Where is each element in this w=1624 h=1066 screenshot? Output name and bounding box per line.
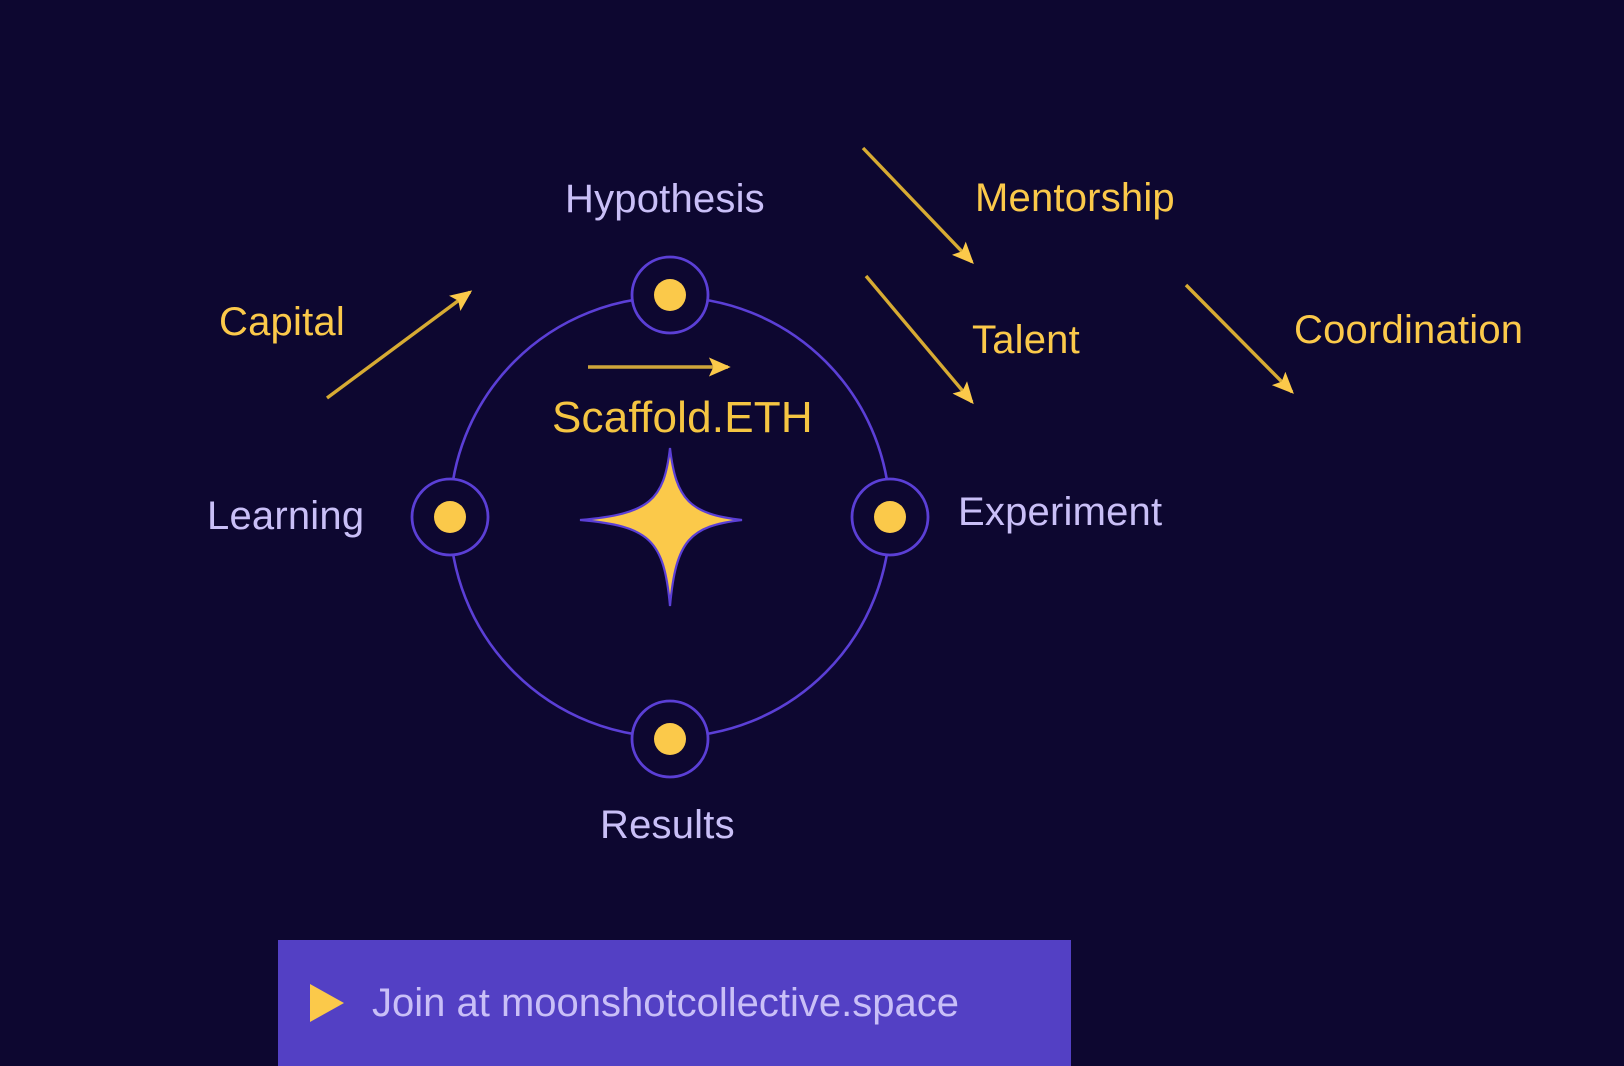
- inflow-label-mentorship: Mentorship: [975, 178, 1175, 218]
- node-label-experiment: Experiment: [958, 492, 1162, 532]
- node-dot-experiment: [874, 501, 906, 533]
- node-dot-learning: [434, 501, 466, 533]
- node-label-learning: Learning: [207, 496, 364, 536]
- node-dot-results: [654, 723, 686, 755]
- inflow-label-capital: Capital: [219, 302, 345, 342]
- talent-arrow-icon: [866, 276, 972, 402]
- join-cta-banner[interactable]: Join at moonshotcollective.space: [278, 940, 1071, 1066]
- diagram-title: Scaffold.ETH: [552, 396, 813, 440]
- four-point-star-icon: [580, 448, 742, 606]
- node-dot-hypothesis: [654, 279, 686, 311]
- node-label-results: Results: [600, 805, 735, 845]
- inflow-label-coordination: Coordination: [1294, 310, 1523, 350]
- capital-arrow-icon: [327, 292, 470, 398]
- inflow-label-talent: Talent: [972, 320, 1080, 360]
- mentorship-arrow-icon: [863, 148, 972, 262]
- play-triangle-icon: [310, 984, 344, 1022]
- diagram-canvas: Hypothesis Experiment Results Learning C…: [0, 0, 1624, 1066]
- coordination-arrow-icon: [1186, 285, 1292, 392]
- node-label-hypothesis: Hypothesis: [565, 179, 765, 219]
- join-cta-label: Join at moonshotcollective.space: [372, 983, 959, 1023]
